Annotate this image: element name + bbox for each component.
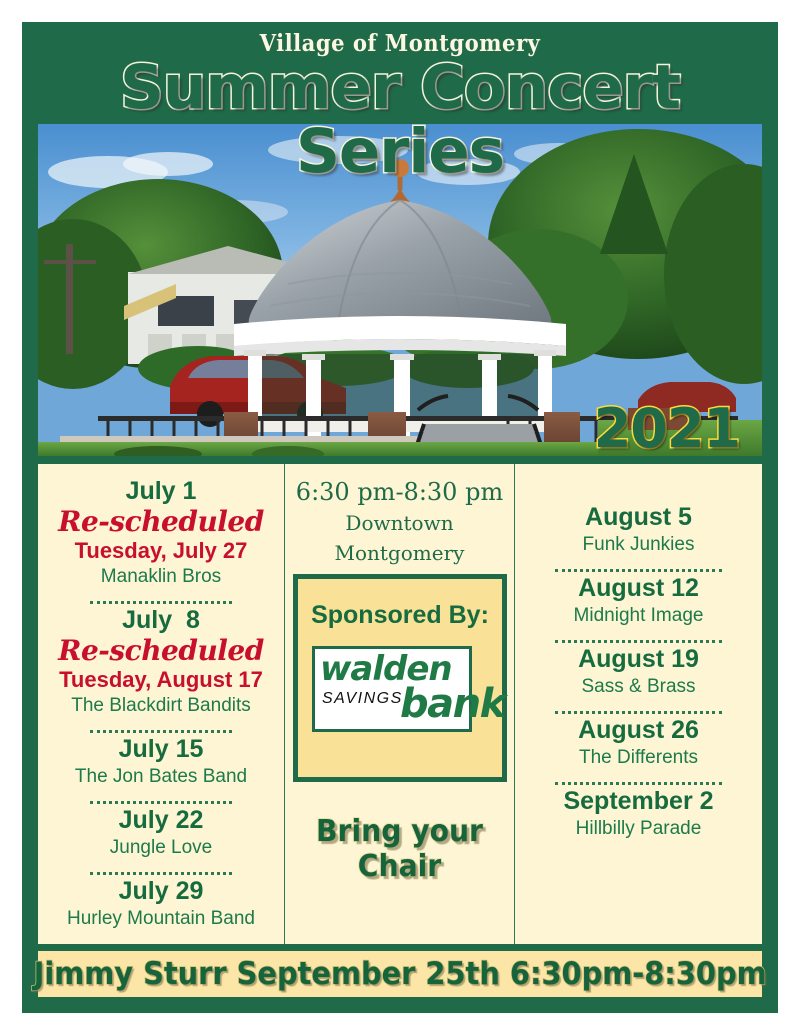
- rescheduled-label: Re-scheduled: [46, 506, 276, 538]
- concert-date: August 26: [523, 715, 754, 745]
- walden-savings-bank-logo: walden SAVINGS bank: [312, 646, 494, 734]
- concert-date: July 8: [46, 605, 276, 635]
- concert-poster: Village of Montgomery Summer Concert Ser…: [22, 22, 778, 1013]
- list-item: August 12 Midnight Image: [523, 573, 754, 629]
- concert-date: July 15: [46, 734, 276, 764]
- august-september-schedule-column: August 5 Funk Junkies August 12 Midnight…: [515, 464, 762, 944]
- band-name: The Differents: [523, 745, 754, 771]
- logo-word-bank: bank: [400, 682, 505, 726]
- band-name: Hurley Mountain Band: [46, 906, 276, 932]
- list-item: July 8 Re-scheduled Tuesday, August 17 T…: [46, 605, 276, 719]
- divider-dots: [555, 772, 721, 785]
- concert-date: September 2: [523, 786, 754, 816]
- band-name: Funk Junkies: [523, 532, 754, 558]
- list-item: July 15 The Jon Bates Band: [46, 734, 276, 790]
- concert-date: August 12: [523, 573, 754, 603]
- july-schedule-column: July 1 Re-scheduled Tuesday, July 27 Man…: [38, 464, 284, 944]
- band-name: Manaklin Bros: [46, 564, 276, 590]
- year-label: 2021: [594, 397, 740, 456]
- band-name: Sass & Brass: [523, 674, 754, 700]
- concert-date: August 19: [523, 644, 754, 674]
- divider-dots: [555, 630, 721, 643]
- concert-date: August 5: [523, 502, 754, 532]
- sponsor-box: Sponsored By: walden SAVINGS bank: [293, 574, 507, 782]
- band-name: Hillbilly Parade: [523, 816, 754, 842]
- divider-dots: [90, 591, 233, 604]
- page-title: Summer Concert Series: [22, 56, 778, 184]
- list-item: August 19 Sass & Brass: [523, 644, 754, 700]
- rescheduled-label: Re-scheduled: [46, 635, 276, 667]
- divider-dots: [90, 862, 233, 875]
- list-item: September 2 Hillbilly Parade: [523, 786, 754, 842]
- poster-header: Village of Montgomery Summer Concert Ser…: [22, 22, 778, 134]
- bring-your-chair-note: Bring your Chair: [292, 814, 507, 884]
- rescheduled-date: Tuesday, July 27: [46, 538, 276, 564]
- headliner-text: Jimmy Sturr September 25th 6:30pm-8:30pm: [33, 956, 766, 992]
- band-name: The Jon Bates Band: [46, 764, 276, 790]
- band-name: Midnight Image: [523, 603, 754, 629]
- band-name: Jungle Love: [46, 835, 276, 861]
- schedule-panel: July 1 Re-scheduled Tuesday, July 27 Man…: [38, 464, 762, 944]
- list-item: July 22 Jungle Love: [46, 805, 276, 861]
- concert-date: July 22: [46, 805, 276, 835]
- concert-date: July 29: [46, 876, 276, 906]
- info-sponsor-column: 6:30 pm-8:30 pm Downtown Montgomery Spon…: [284, 464, 515, 944]
- list-item: August 5 Funk Junkies: [523, 502, 754, 558]
- rescheduled-date: Tuesday, August 17: [46, 667, 276, 693]
- list-item: August 26 The Differents: [523, 715, 754, 771]
- divider-dots: [90, 720, 233, 733]
- divider-dots: [90, 791, 233, 804]
- event-time: 6:30 pm-8:30 pm: [291, 476, 508, 508]
- sponsored-by-label: Sponsored By:: [298, 601, 502, 630]
- concert-date: July 1: [46, 476, 276, 506]
- band-name: The Blackdirt Bandits: [46, 693, 276, 719]
- divider-dots: [555, 559, 721, 572]
- list-item: July 1 Re-scheduled Tuesday, July 27 Man…: [46, 476, 276, 590]
- logo-word-savings: SAVINGS: [322, 690, 403, 708]
- divider-dots: [555, 701, 721, 714]
- headliner-banner: Jimmy Sturr September 25th 6:30pm-8:30pm: [38, 951, 762, 997]
- list-item: July 29 Hurley Mountain Band: [46, 876, 276, 932]
- event-location: Downtown Montgomery: [291, 508, 508, 568]
